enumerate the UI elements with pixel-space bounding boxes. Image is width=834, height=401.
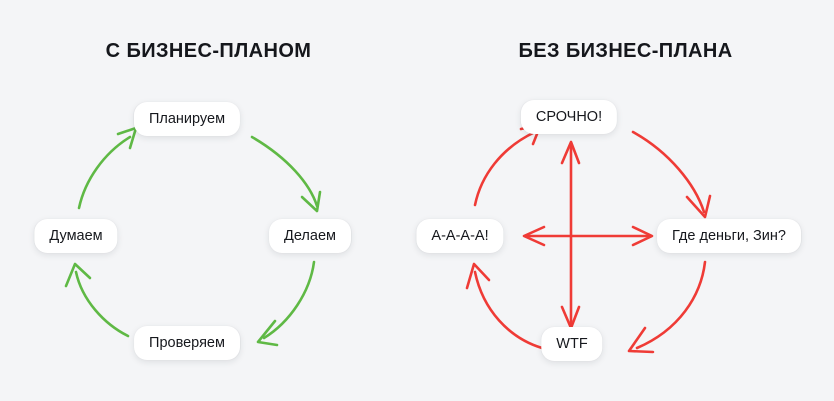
arrow-think-to-plan [79,128,136,208]
panel-without-business-plan: БЕЗ БИЗНЕС-ПЛАНА [417,0,834,401]
node-think-label: Думаем [49,229,102,244]
arrow-do-to-check [258,262,314,345]
panel-with-business-plan: С БИЗНЕС-ПЛАНОМ Плани [0,0,417,401]
arrows-layer-right [417,0,834,401]
node-urgent[interactable]: СРОЧНО! [521,100,617,134]
node-wtf[interactable]: WTF [541,327,602,361]
node-wtf-label: WTF [556,337,587,352]
node-do-label: Делаем [284,229,336,244]
node-money-label: Где деньги, Зин? [672,229,786,244]
arrow-plan-to-do [252,137,320,211]
arrow-money-to-wtf [629,262,705,352]
node-do[interactable]: Делаем [269,219,351,253]
node-urgent-label: СРОЧНО! [536,110,602,125]
node-check-label: Проверяем [149,336,225,351]
node-scream-label: А-А-А-А! [431,229,488,244]
node-money[interactable]: Где деньги, Зин? [657,219,801,253]
arrow-urgent-to-money [633,132,710,217]
arrow-check-to-think [66,264,128,336]
arrow-horizontal-double [524,227,652,245]
node-plan-label: Планируем [149,112,225,127]
node-check[interactable]: Проверяем [134,326,240,360]
node-scream[interactable]: А-А-А-А! [416,219,503,253]
node-plan[interactable]: Планируем [134,102,240,136]
node-think[interactable]: Думаем [34,219,117,253]
diagram-canvas: С БИЗНЕС-ПЛАНОМ Плани [0,0,834,401]
arrow-scream-to-urgent [475,124,541,205]
arrow-wtf-to-scream [467,264,542,348]
